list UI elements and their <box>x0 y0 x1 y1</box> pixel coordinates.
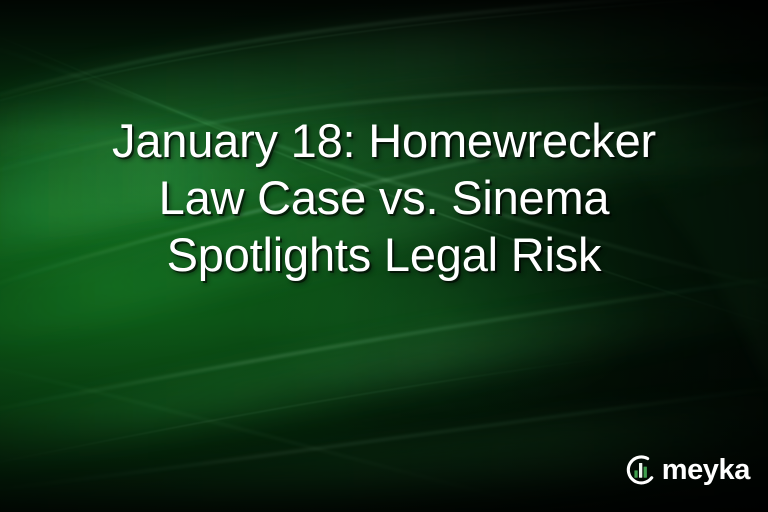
brand-wordmark: meyka <box>662 456 750 485</box>
meyka-bar-chart-circle-icon <box>623 452 659 488</box>
headline-block: January 18: Homewrecker Law Case vs. Sin… <box>0 112 768 283</box>
brand-logo: meyka <box>623 452 750 488</box>
headline-line-2: Law Case vs. Sinema <box>0 169 768 226</box>
headline-line-1: January 18: Homewrecker <box>0 112 768 169</box>
headline-line-3: Spotlights Legal Risk <box>0 226 768 283</box>
slide-canvas: January 18: Homewrecker Law Case vs. Sin… <box>0 0 768 512</box>
